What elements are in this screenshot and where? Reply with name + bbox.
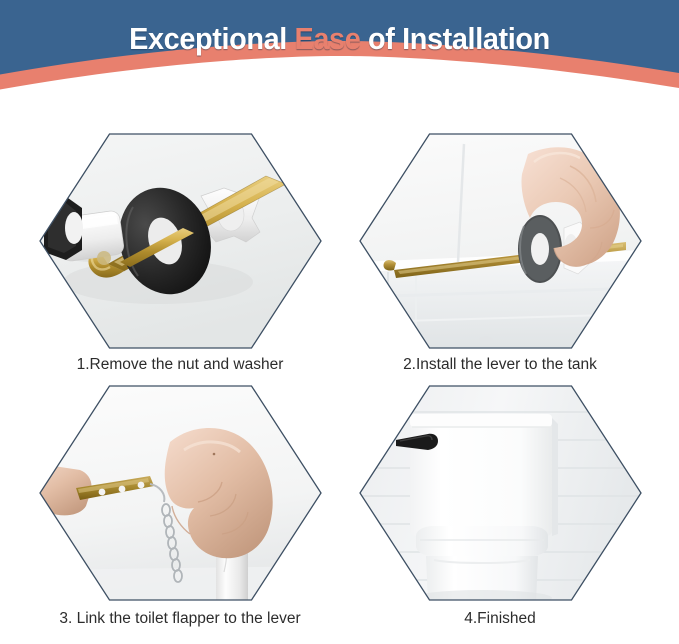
step-caption-3: 3. Link the toilet flapper to the lever <box>20 608 340 630</box>
step-item-2: 2.Install the lever to the tank <box>340 132 660 390</box>
step-item-1: 1.Remove the nut and washer <box>20 132 340 390</box>
page-title-part1: Exceptional <box>129 21 294 56</box>
step-4-photo <box>358 384 643 602</box>
step-2-photo <box>358 132 643 350</box>
step-item-3: 3. Link the toilet flapper to the lever <box>20 384 340 642</box>
step-caption-1: 1.Remove the nut and washer <box>20 354 340 376</box>
steps-grid: 1.Remove the nut and washer <box>0 122 679 644</box>
hex-frame-2 <box>358 132 643 350</box>
hex-frame-1 <box>38 132 323 350</box>
step-3-photo <box>38 384 323 602</box>
installation-guide-page: Exceptional Ease of Installation <box>0 0 679 644</box>
page-title-part2: of Installation <box>360 21 549 56</box>
step-1-photo <box>38 132 323 350</box>
hex-frame-3 <box>38 384 323 602</box>
page-title: Exceptional Ease of Installation <box>24 19 655 59</box>
header-banner: Exceptional Ease of Installation <box>0 0 679 122</box>
step-item-4: 4.Finished <box>340 384 660 642</box>
step-caption-2: 2.Install the lever to the tank <box>340 354 660 376</box>
page-title-accent: Ease <box>295 21 361 56</box>
black-hex-nut <box>44 198 83 260</box>
hex-frame-4 <box>358 384 643 602</box>
step-caption-4: 4.Finished <box>340 608 660 630</box>
toilet-tank-shape <box>410 414 558 536</box>
